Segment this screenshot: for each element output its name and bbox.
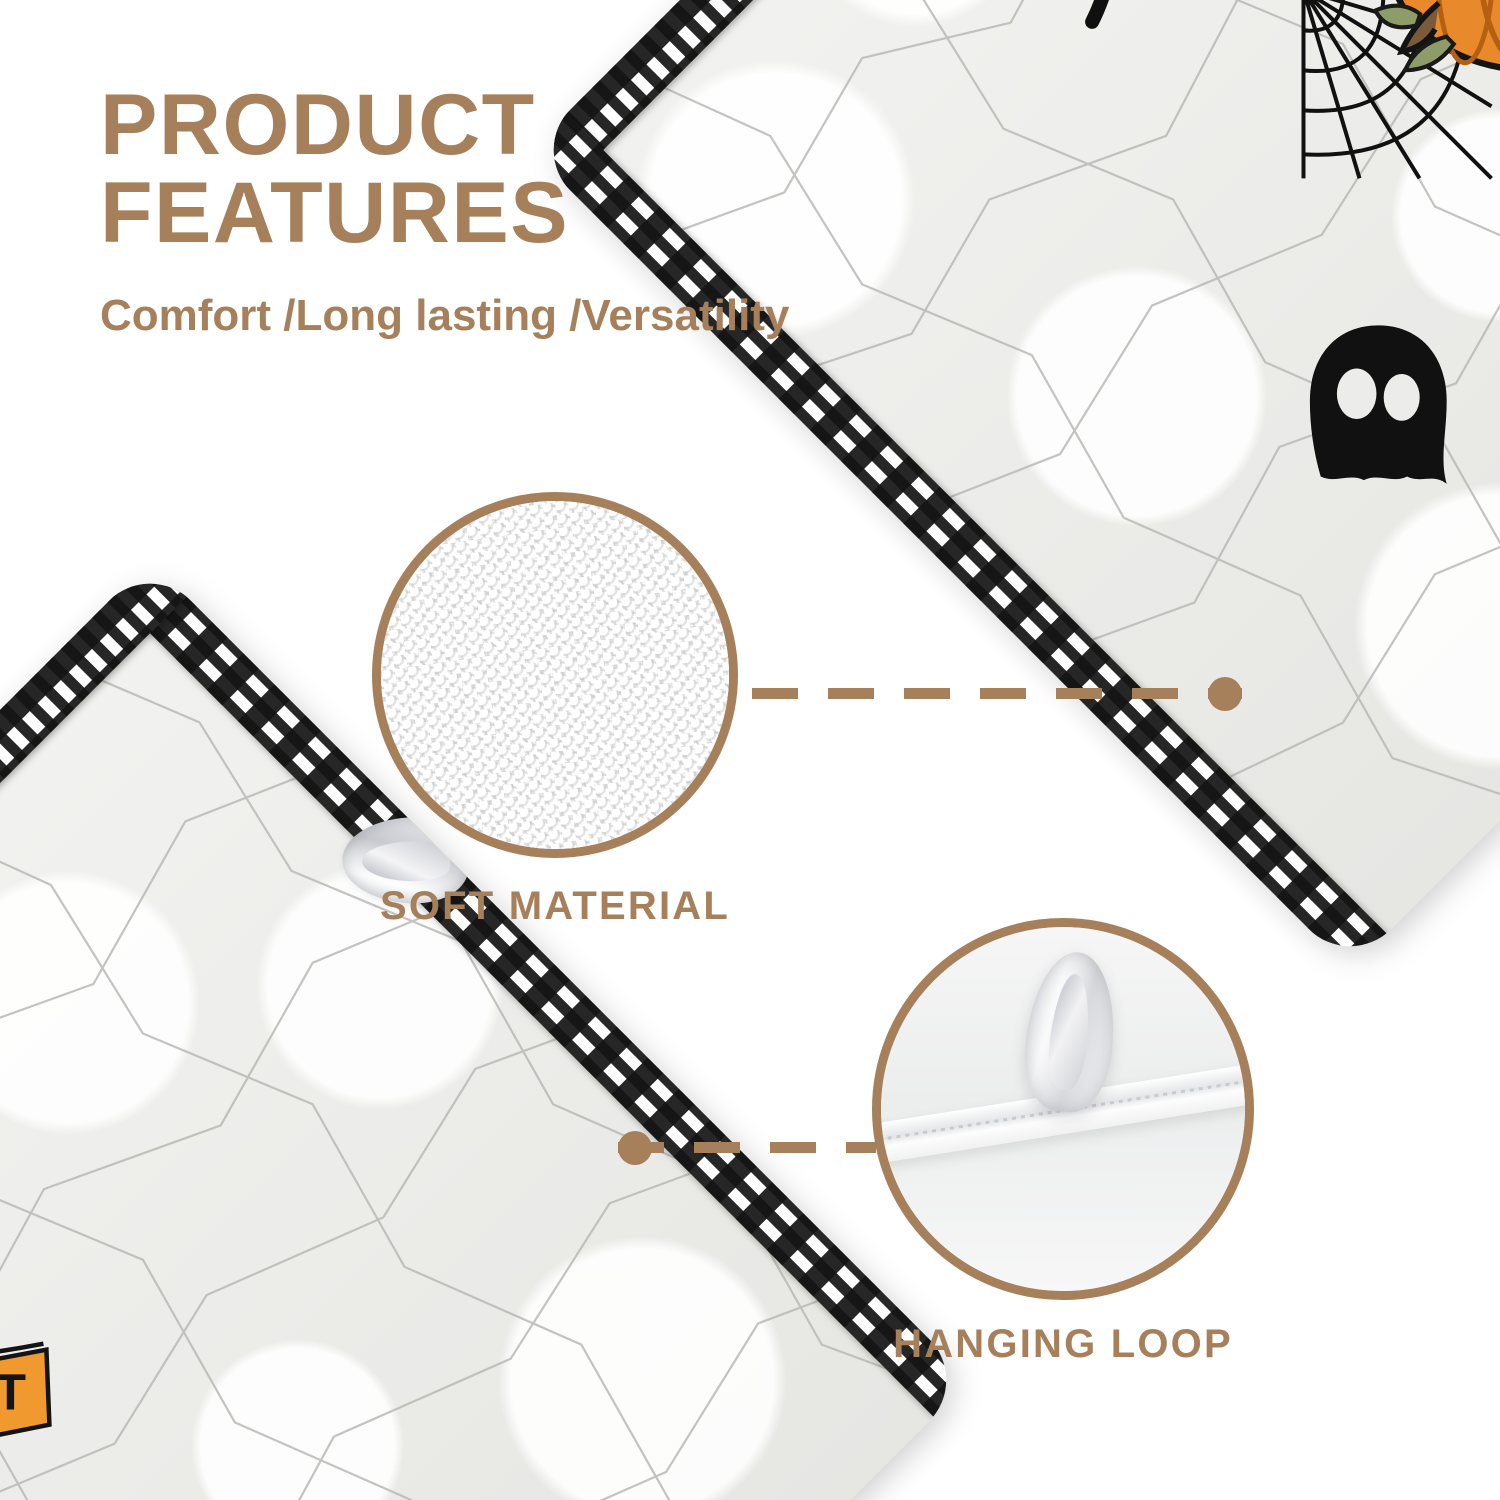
connector-endpoint-dot	[1208, 677, 1242, 711]
treat-banner-illustration: T R E A T	[0, 1323, 52, 1473]
connector-endpoint-dot	[618, 1131, 652, 1165]
caption-hanging-loop: HANGING LOOP	[872, 1322, 1254, 1367]
svg-text:T: T	[0, 1364, 26, 1421]
caption-soft-material: SOFT MATERIAL	[372, 884, 738, 929]
connector-hanging-loop	[618, 1142, 876, 1153]
infographic-canvas: T R E A T	[0, 0, 1500, 1500]
ghost-silhouette-icon	[1288, 315, 1468, 495]
orange-pumpkin-illustration	[1365, 0, 1500, 81]
callout-hanging-loop	[872, 918, 1254, 1300]
headline-block: PRODUCT FEATURES Comfort /Long lasting /…	[100, 82, 860, 341]
page-title-line-2: FEATURES	[100, 170, 860, 258]
callout-soft-material	[372, 492, 738, 858]
page-subtitle: Comfort /Long lasting /Versatility	[100, 291, 860, 341]
connector-dash	[752, 688, 1242, 699]
connector-dash	[618, 1142, 876, 1153]
connector-soft-material	[752, 688, 1242, 699]
page-title: PRODUCT FEATURES	[100, 82, 860, 257]
soft-material-detail-photo	[381, 501, 729, 849]
terry-cloth-texture	[381, 501, 729, 849]
hanging-loop-detail-photo	[881, 927, 1245, 1291]
page-title-line-1: PRODUCT	[100, 77, 536, 173]
